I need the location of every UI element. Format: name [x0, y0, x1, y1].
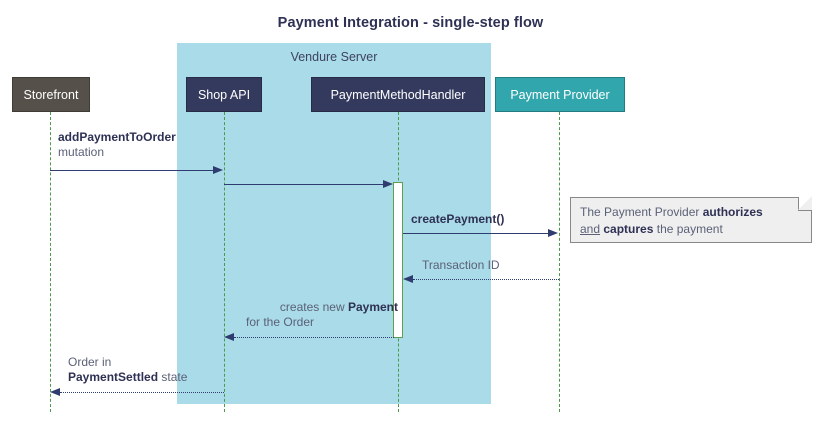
message-line-shop-api-to-handler — [224, 184, 384, 185]
arrow-head-shop-api-to-handler — [383, 180, 393, 188]
message-label-bold-creates-new-payment: Payment — [348, 300, 398, 314]
message-line-transaction-id — [413, 279, 559, 280]
note-provider-authorizes-captures: The Payment Provider authorizes and capt… — [570, 197, 812, 243]
message-label-bold-create-payment: createPayment() — [411, 212, 504, 226]
message-line-add-payment-to-order — [50, 170, 214, 171]
message-line-creates-new-payment — [234, 337, 394, 338]
arrow-head-create-payment — [548, 229, 558, 237]
sequence-diagram: Payment Integration - single-step flow V… — [0, 0, 821, 422]
message-label-bold-payment-settled: PaymentSettled — [68, 370, 158, 384]
participant-label-storefront: Storefront — [24, 88, 79, 102]
note-text-part1: The Payment Provider — [580, 205, 703, 219]
message-label-plain-transaction-id: Transaction ID — [422, 258, 500, 272]
participant-label-shop-api: Shop API — [198, 88, 250, 102]
message-label-plain-creates-new-payment-l1: creates new — [280, 300, 348, 314]
lifeline-shop-api — [224, 112, 225, 412]
message-label-plain-add-payment-to-order: mutation — [58, 145, 104, 159]
note-text-part2: the payment — [653, 222, 722, 236]
arrow-head-add-payment-to-order — [213, 166, 223, 174]
message-label-plain-creates-new-payment-l2: for the Order — [200, 315, 398, 330]
message-label-creates-new-payment: creates new Payment for the Order — [200, 300, 398, 329]
note-text-underline-and: and — [580, 222, 600, 236]
arrow-head-creates-new-payment — [224, 333, 234, 341]
message-line-order-payment-settled — [60, 392, 224, 393]
participant-label-paymentmethodhandler: PaymentMethodHandler — [331, 88, 466, 102]
group-label-vendure-server: Vendure Server — [177, 50, 491, 64]
participant-payment-provider[interactable]: Payment Provider — [495, 77, 625, 112]
arrow-head-transaction-id — [403, 275, 413, 283]
lifeline-payment-provider — [559, 112, 560, 412]
participant-label-payment-provider: Payment Provider — [510, 88, 609, 102]
lifeline-storefront — [50, 112, 51, 412]
note-text-bold-captures: captures — [603, 222, 653, 236]
diagram-title: Payment Integration - single-step flow — [0, 15, 821, 31]
message-label-add-payment-to-order: addPaymentToOrder mutation — [58, 130, 176, 159]
message-line-create-payment — [403, 233, 549, 234]
participant-storefront[interactable]: Storefront — [12, 77, 90, 112]
message-label-bold-add-payment-to-order: addPaymentToOrder — [58, 130, 176, 144]
message-label-plain-order-payment-settled-l1: Order in — [68, 355, 111, 369]
note-text: The Payment Provider authorizes and capt… — [580, 204, 808, 237]
arrow-head-order-payment-settled — [50, 388, 60, 396]
message-label-order-payment-settled: Order in PaymentSettled state — [68, 355, 187, 384]
message-label-plain-order-payment-settled-l2: state — [158, 370, 187, 384]
message-label-create-payment: createPayment() — [411, 212, 504, 227]
participant-shop-api[interactable]: Shop API — [186, 77, 262, 112]
message-label-transaction-id: Transaction ID — [422, 258, 500, 273]
participant-paymentmethodhandler[interactable]: PaymentMethodHandler — [311, 77, 485, 112]
note-text-bold-authorizes: authorizes — [703, 205, 763, 219]
